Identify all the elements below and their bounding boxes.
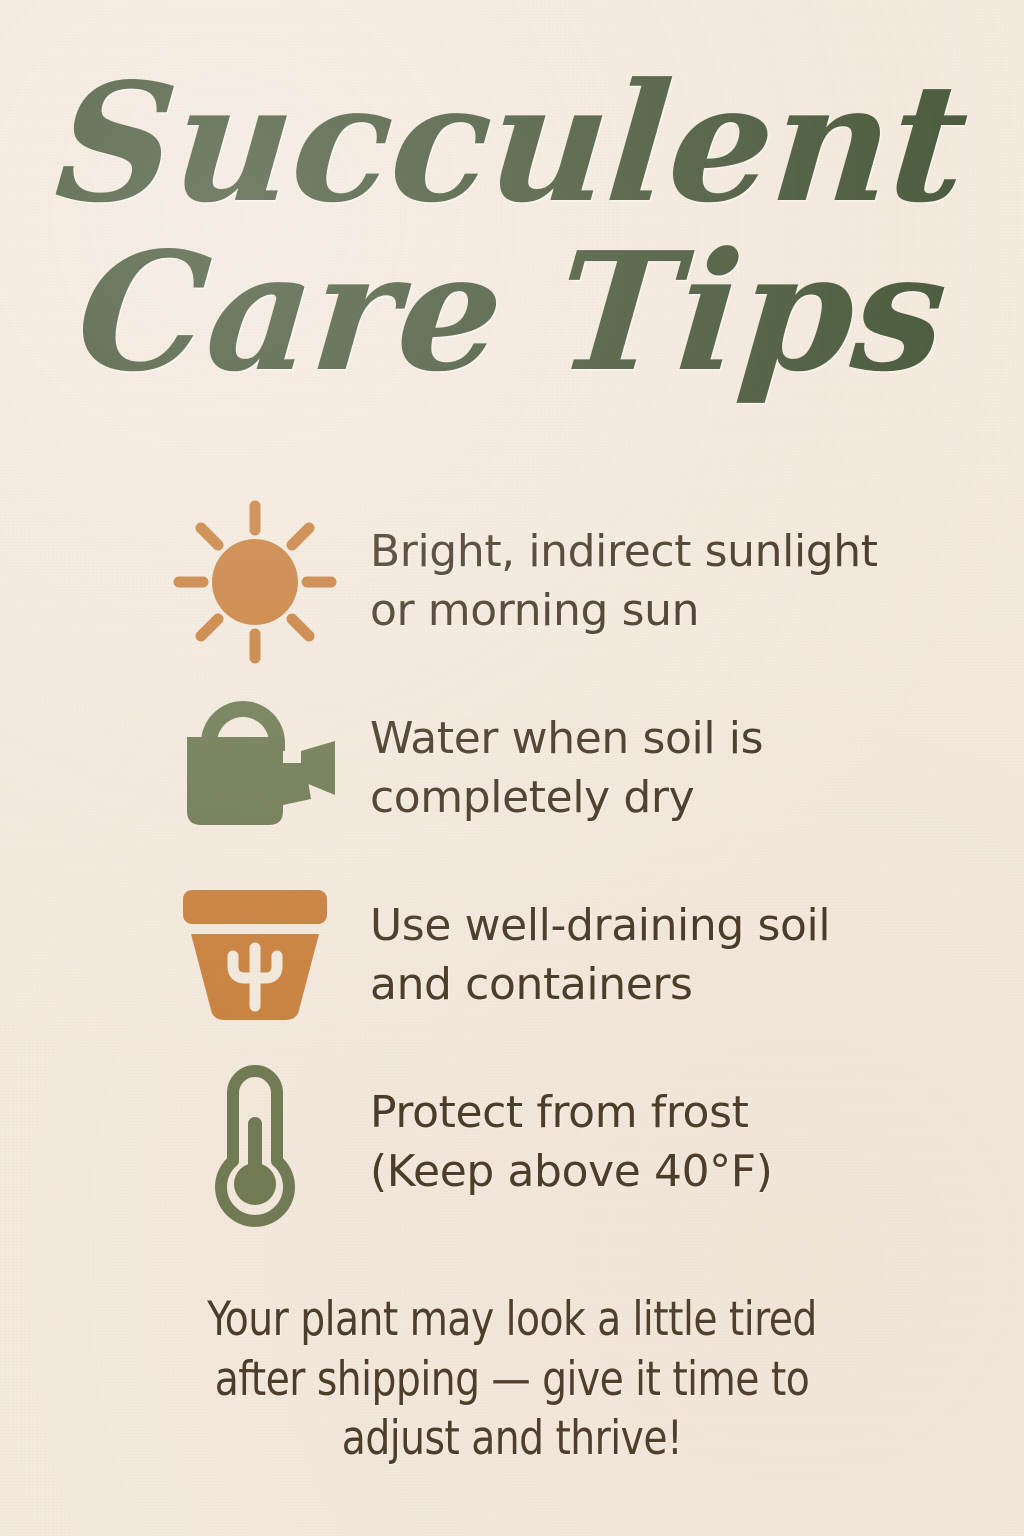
tip-text-soil: Use well-draining soil and containers (360, 897, 830, 1015)
tip-text-frost: Protect from frost (Keep above 40°F) (360, 1084, 772, 1202)
thermometer-icon (150, 1053, 360, 1233)
footer-note: Your plant may look a little tired after… (36, 1290, 988, 1469)
sun-icon (150, 492, 360, 672)
care-tips-list: Bright, indirect sunlight or morning sun (0, 488, 1024, 1236)
tip-row-frost: Protect from frost (Keep above 40°F) (0, 1049, 1024, 1236)
page-title: Succulent Care Tips (0, 62, 1024, 394)
tip-text-watering: Water when soil is completely dry (360, 710, 763, 828)
tip-row-sunlight: Bright, indirect sunlight or morning sun (0, 488, 1024, 675)
plant-pot-icon (150, 876, 360, 1036)
succulent-care-poster: Succulent Care Tips (0, 0, 1024, 1536)
tip-row-watering: Water when soil is completely dry (0, 675, 1024, 862)
tip-row-soil: Use well-draining soil and containers (0, 862, 1024, 1049)
tip-text-sunlight: Bright, indirect sunlight or morning sun (360, 523, 878, 641)
watering-can-icon (150, 689, 360, 849)
title-line-2: Care Tips (0, 231, 1024, 394)
title-line-1: Succulent (0, 62, 1024, 225)
